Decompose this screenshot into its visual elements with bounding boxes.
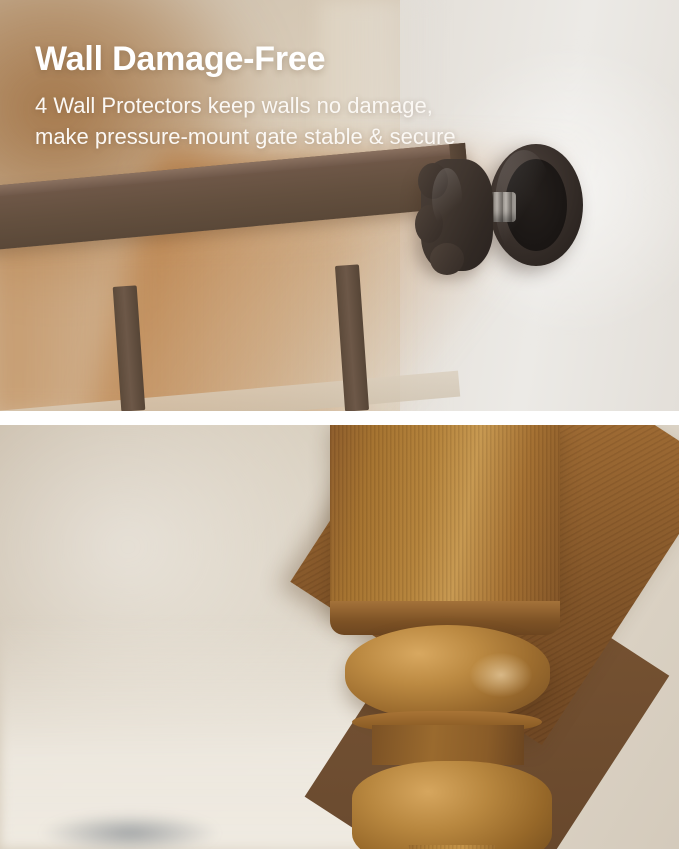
newel-post-bulb-lower (352, 761, 552, 849)
floor-shadow (40, 813, 220, 849)
panel-body-text: 4 Wall Protectors keep walls no damage, … (35, 90, 475, 152)
newel-post-neck (372, 725, 524, 765)
knob-lobe (430, 243, 464, 275)
panel-headline: Wall Damage-Free (35, 38, 475, 80)
wood-grain (330, 425, 560, 615)
panel-wall-damage-free: Wall Damage-Free 4 Wall Protectors keep … (0, 0, 679, 411)
product-feature-graphic: Wall Damage-Free 4 Wall Protectors keep … (0, 0, 679, 849)
newel-post-upper (330, 425, 560, 615)
scene-banister-mount (0, 425, 679, 849)
panel-versatile-y-shape-design: Versatile Y Shape Design 2 Free Y-spindl… (0, 425, 679, 849)
wood-grain (392, 845, 512, 849)
newel-post-highlight (470, 653, 532, 697)
panel-divider (0, 411, 679, 425)
newel-post-taper (392, 845, 512, 849)
knob-highlight (432, 168, 462, 228)
copy-block-top: Wall Damage-Free 4 Wall Protectors keep … (35, 38, 475, 152)
